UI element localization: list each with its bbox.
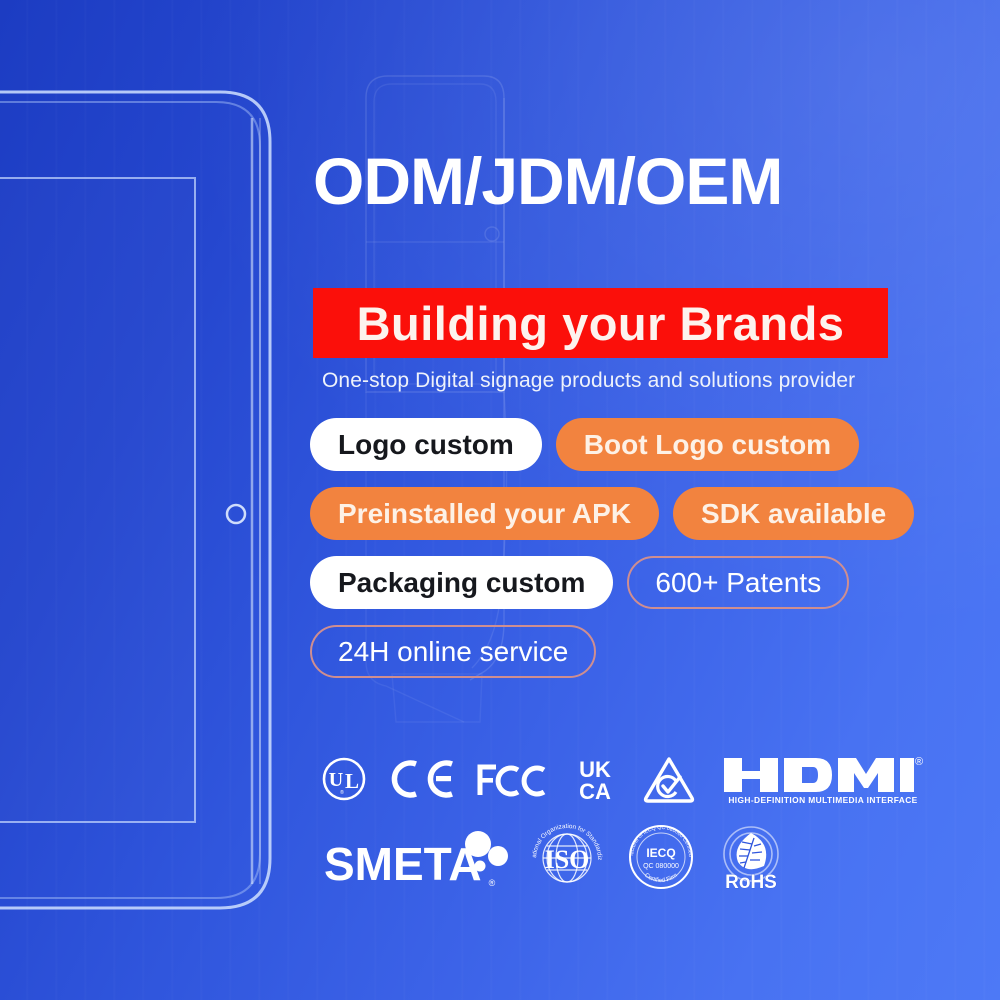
certification-row-2: SMETA ® [320,816,920,894]
subtitle-text: One-stop Digital signage products and so… [322,369,855,393]
rohs-icon: RoHS [714,820,788,894]
svg-text:L: L [345,769,359,793]
certification-logos: U L ® [320,748,920,894]
content-column: ODM/JDM/OEM Building your Brands One-sto… [310,0,910,1000]
pill-row-4: 24H online service [310,625,910,678]
pill-boot-logo-custom[interactable]: Boot Logo custom [556,418,859,471]
pill-sdk-available[interactable]: SDK available [673,487,914,540]
iecq-footer: Certified Firm [643,873,679,884]
svg-text:®: ® [340,789,344,796]
ul-icon: U L ® [320,755,368,803]
pill-packaging-custom[interactable]: Packaging custom [310,556,613,609]
iso-icon: International Organization for Standardi… [526,818,608,894]
hdmi-tagline: HIGH-DEFINITION MULTIMEDIA INTERFACE [728,795,917,805]
pill-row-2: Preinstalled your APK SDK available [310,487,910,540]
svg-text:U: U [329,769,343,791]
fcc-icon [474,755,548,803]
ce-icon [386,755,456,803]
smeta-icon: SMETA ® [320,822,510,894]
pill-row-1: Logo custom Boot Logo custom [310,418,910,471]
rcm-icon [642,754,696,804]
headline-text: Building your Brands [357,296,845,351]
front-camera-dot [227,505,245,523]
pill-preinstalled-apk[interactable]: Preinstalled your APK [310,487,659,540]
rohs-wordmark: RoHS [725,872,777,893]
feature-pill-group: Logo custom Boot Logo custom Preinstalle… [310,418,910,694]
pill-24h-online-service[interactable]: 24H online service [310,625,596,678]
banner-canvas: ODM/JDM/OEM Building your Brands One-sto… [0,0,1000,1000]
page-title: ODM/JDM/OEM [313,148,782,214]
hdmi-icon: ® HIGH-DEFINITION MULTIMEDIA INTERFACE [720,752,925,806]
ukca-icon: UK CA [566,754,624,804]
hdmi-registered: ® [915,756,923,768]
pill-row-3: Packaging custom 600+ Patents [310,556,910,609]
iecq-sub: QC 080000 [643,863,679,870]
tablet-outline [0,58,280,938]
pill-600-patents[interactable]: 600+ Patents [627,556,849,609]
svg-text:®: ® [489,878,496,888]
iso-wordmark: ISO [545,845,590,874]
smeta-wordmark: SMETA [324,838,482,890]
headline-banner: Building your Brands [313,288,888,358]
iecq-icon: Manufacturer of IECQ QC 080000 Certified… [624,820,698,894]
pill-logo-custom[interactable]: Logo custom [310,418,542,471]
svg-text:Certified Firm: Certified Firm [643,873,679,884]
ukca-bottom-label: CA [579,779,611,804]
iecq-wordmark: IECQ [646,846,675,860]
certification-row-1: U L ® [320,748,920,810]
